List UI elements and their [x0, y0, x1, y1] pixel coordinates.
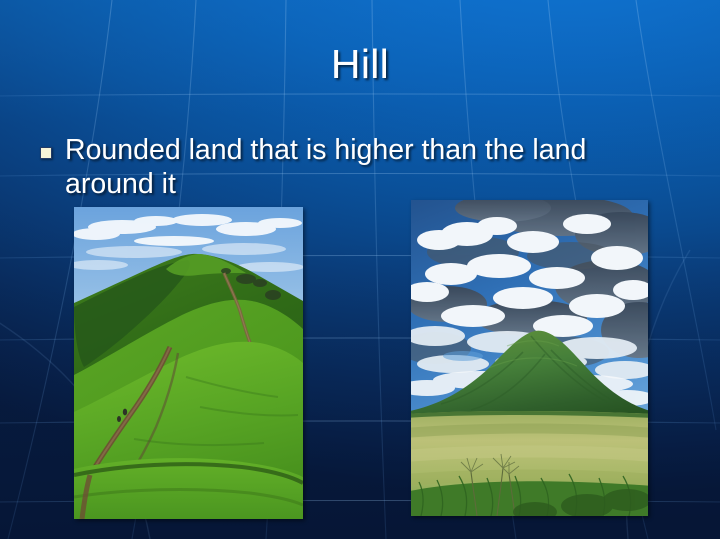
slide-title: Hill: [0, 40, 720, 88]
bullet-item-text: Rounded land that is higher than the lan…: [65, 133, 680, 201]
hill-photo-right: [411, 200, 648, 516]
square-bullet-icon: [40, 147, 52, 159]
slide-body-content: Rounded land that is higher than the lan…: [40, 133, 680, 201]
hill-photo-left: [74, 207, 303, 519]
presentation-slide: Hill Rounded land that is higher than th…: [0, 0, 720, 539]
